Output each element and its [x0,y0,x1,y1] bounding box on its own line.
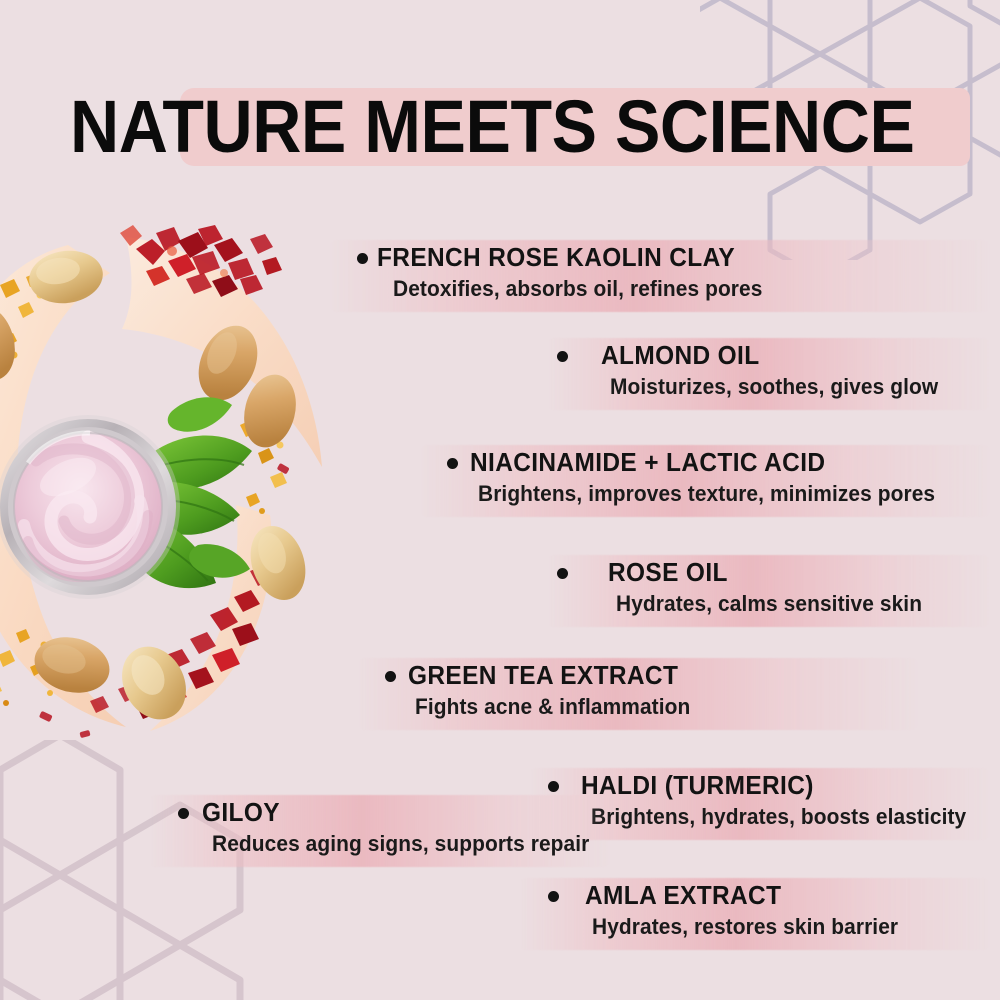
ingredient-entry: NIACINAMIDE + LACTIC ACIDBrightens, impr… [0,445,1000,517]
bullet-icon [357,253,368,264]
bullet-icon [548,891,559,902]
ingredient-entry: FRENCH ROSE KAOLIN CLAYDetoxifies, absor… [0,240,1000,312]
bullet-icon [557,568,568,579]
bullet-icon [385,671,396,682]
ingredient-name: NIACINAMIDE + LACTIC ACID [470,447,825,477]
bullet-icon [548,781,559,792]
ingredient-name: GILOY [202,797,280,827]
ingredient-name: FRENCH ROSE KAOLIN CLAY [377,242,735,272]
ingredient-name: GREEN TEA EXTRACT [408,660,678,690]
ingredient-name: AMLA EXTRACT [585,880,781,910]
ingredient-description: Reduces aging signs, supports repair [212,831,589,857]
bullet-icon [178,808,189,819]
ingredient-entry: AMLA EXTRACTHydrates, restores skin barr… [0,878,1000,950]
ingredient-entry: ROSE OILHydrates, calms sensitive skin [0,555,1000,627]
ingredient-description: Brightens, improves texture, minimizes p… [478,481,935,507]
ingredient-description: Hydrates, calms sensitive skin [616,591,922,617]
ingredient-entry: GREEN TEA EXTRACTFights acne & inflammat… [0,658,1000,730]
ingredient-entry: GILOYReduces aging signs, supports repai… [0,795,1000,867]
ingredient-name: ROSE OIL [608,557,728,587]
bullet-icon [447,458,458,469]
bullet-icon [557,351,568,362]
page-title: NATURE MEETS SCIENCE [70,84,898,170]
ingredient-name: ALMOND OIL [601,340,760,370]
ingredient-entry: ALMOND OILMoisturizes, soothes, gives gl… [0,338,1000,410]
infographic-poster: NATURE MEETS SCIENCE [0,0,1000,1000]
ingredient-description: Detoxifies, absorbs oil, refines pores [393,276,762,302]
ingredient-description: Fights acne & inflammation [415,694,690,720]
ingredient-description: Hydrates, restores skin barrier [592,914,898,940]
ingredient-description: Moisturizes, soothes, gives glow [610,374,938,400]
